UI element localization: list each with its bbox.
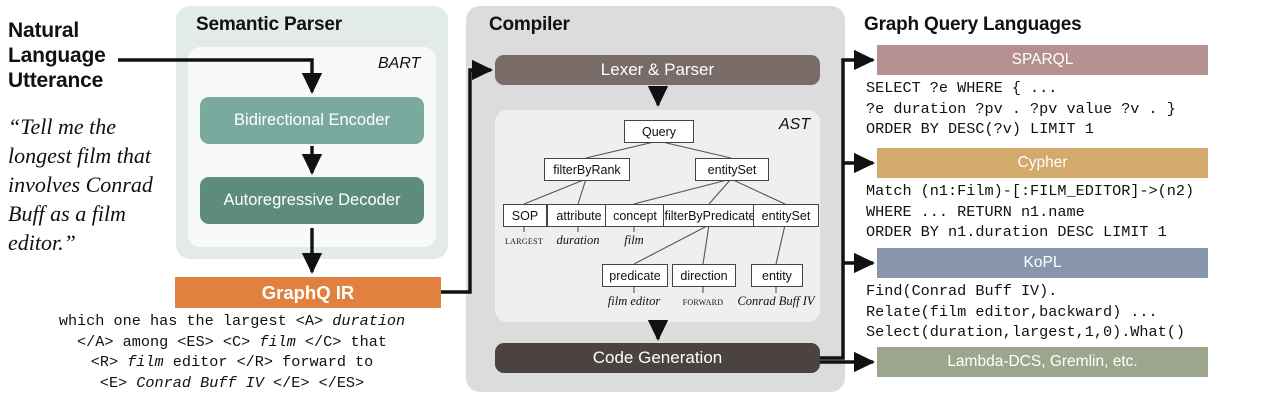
ast-label: AST — [779, 116, 810, 134]
title-line: Utterance — [8, 69, 103, 92]
autoregressive-decoder-box: Autoregressive Decoder — [200, 177, 424, 224]
ast-node-query: Query — [624, 120, 694, 143]
sparql-bar: SPARQL — [877, 45, 1208, 75]
semantic-parser-title: Semantic Parser — [196, 14, 342, 36]
lexer-parser-bar: Lexer & Parser — [495, 55, 820, 85]
bidirectional-encoder-box: Bidirectional Encoder — [200, 97, 424, 144]
lambda-dcs-gremlin-bar: Lambda-DCS, Gremlin, etc. — [877, 347, 1208, 377]
ast-leaf-conrad: Conrad Buff IV — [706, 294, 846, 309]
code-generation-bar: Code Generation — [495, 343, 820, 373]
ast-node-attribute: attribute — [547, 204, 611, 227]
sparql-code: SELECT ?e WHERE { ... ?e duration ?pv . … — [866, 78, 1276, 140]
ast-leaf-film: film — [564, 233, 704, 248]
cypher-code: Match (n1:Film)-[:FILM_EDITOR]->(n2) WHE… — [866, 181, 1276, 243]
bart-label: BART — [378, 55, 420, 73]
compiler-title: Compiler — [489, 14, 570, 36]
graphq-ir-text: which one has the largest <A> duration</… — [2, 311, 462, 393]
ast-node-entitySet: entitySet — [695, 158, 769, 181]
ast-node-predicate: predicate — [602, 264, 668, 287]
graphq-ir-bar: GraphQ IR — [175, 277, 441, 308]
cypher-bar: Cypher — [877, 148, 1208, 178]
natural-language-utterance-title: NaturalLanguageUtterance — [8, 18, 173, 93]
ast-node-entity: entity — [751, 264, 803, 287]
ast-node-filterByPredicate: filterByPredicate — [663, 204, 757, 227]
graph-query-languages-title: Graph Query Languages — [864, 14, 1082, 36]
kopl-bar: KoPL — [877, 248, 1208, 278]
ast-node-direction: direction — [672, 264, 736, 287]
title-line: Language — [8, 44, 106, 67]
utterance-text: “Tell me the longest film that involves … — [8, 112, 178, 257]
title-line: Natural — [8, 19, 79, 42]
ast-node-concept: concept — [605, 204, 665, 227]
kopl-code: Find(Conrad Buff IV). Relate(film editor… — [866, 281, 1276, 343]
ast-node-entitySet2: entitySet — [753, 204, 819, 227]
ast-node-sop: SOP — [503, 204, 547, 227]
ast-node-filterByRank: filterByRank — [544, 158, 630, 181]
